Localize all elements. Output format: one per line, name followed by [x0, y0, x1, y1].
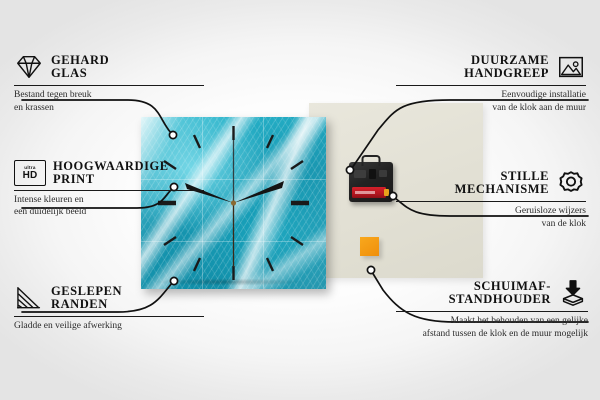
- connector-dot-gehard-glas: [169, 131, 176, 138]
- feature-title-line1: GESLEPEN: [51, 285, 122, 298]
- feature-stille-mechanisme: STILLE MECHANISME Geruisloze wijzers van…: [396, 168, 586, 230]
- feature-title-line2: GLAS: [51, 67, 109, 80]
- feature-title-line1: HOOGWAARDIGE: [53, 160, 169, 173]
- feature-subtitle: Eenvoudige installatie van de klok aan d…: [396, 89, 586, 114]
- diamond-icon: [14, 52, 44, 82]
- feature-header: SCHUIMAF- STANDHOUDER: [396, 278, 588, 308]
- gear-icon: [556, 168, 586, 198]
- feature-header: STILLE MECHANISME: [396, 168, 586, 198]
- feature-rule: [396, 85, 586, 86]
- feature-titles: HOOGWAARDIGE PRINT: [53, 160, 169, 187]
- feature-titles: GEHARD GLAS: [51, 54, 109, 81]
- feature-rule: [396, 311, 588, 312]
- feature-subtitle: Gladde en veilige afwerking: [14, 320, 204, 333]
- feature-gehard-glas: GEHARD GLAS Bestand tegen breuk en krass…: [14, 52, 204, 114]
- feature-header: DUURZAME HANDGREEP: [396, 52, 586, 82]
- feature-titles: DUURZAME HANDGREEP: [464, 54, 549, 81]
- feature-rule: [14, 190, 204, 191]
- feature-subtitle-line2: afstand tussen de klok en de muur mogeli…: [423, 329, 588, 339]
- feature-hoogwaardige-print: ultra HD HOOGWAARDIGE PRINT Intense kleu…: [14, 160, 204, 219]
- feature-title-line2: MECHANISME: [455, 183, 549, 196]
- connector-dot-schuimaf-standhouder: [367, 266, 374, 273]
- picture-frame-icon: [556, 52, 586, 82]
- feature-subtitle-line1: Geruisloze wijzers: [515, 206, 586, 216]
- feature-subtitle: Maakt het behouden van een gelijke afsta…: [396, 315, 588, 340]
- feature-header: GESLEPEN RANDEN: [14, 283, 204, 313]
- feature-title-line1: DUURZAME: [464, 54, 549, 67]
- feature-titles: GESLEPEN RANDEN: [51, 285, 122, 312]
- feature-rule: [14, 316, 204, 317]
- infographic-canvas: GEHARD GLAS Bestand tegen breuk en krass…: [0, 0, 600, 400]
- feature-title-line2: PRINT: [53, 173, 169, 186]
- press-down-pad-icon: [558, 278, 588, 308]
- feature-subtitle-line1: Bestand tegen breuk: [14, 90, 92, 100]
- feature-title-line1: SCHUIMAF-: [449, 280, 551, 293]
- feature-subtitle-line2: en krassen: [14, 103, 54, 113]
- feature-subtitle-line1: Maakt het behouden van een gelijke: [451, 316, 588, 326]
- ultra-hd-icon: ultra HD: [14, 160, 46, 186]
- feature-rule: [396, 201, 586, 202]
- feature-subtitle-line2: van de klok: [542, 219, 586, 229]
- bevelled-edge-icon: [14, 283, 44, 313]
- feature-subtitle-line1: Gladde en veilige afwerking: [14, 321, 122, 331]
- feature-title-line2: STANDHOUDER: [449, 293, 551, 306]
- feature-title-line1: GEHARD: [51, 54, 109, 67]
- feature-subtitle: Bestand tegen breuk en krassen: [14, 89, 204, 114]
- feature-geslepen-randen: GESLEPEN RANDEN Gladde en veilige afwerk…: [14, 283, 204, 333]
- feature-duurzame-handgreep: DUURZAME HANDGREEP Eenvoudige installati…: [396, 52, 586, 114]
- feature-title-line2: RANDEN: [51, 298, 122, 311]
- feature-subtitle: Intense kleuren en een duidelijk beeld: [14, 194, 204, 219]
- feature-subtitle-line2: van de klok aan de muur: [492, 103, 586, 113]
- feature-titles: SCHUIMAF- STANDHOUDER: [449, 280, 551, 307]
- feature-subtitle-line1: Eenvoudige installatie: [501, 90, 586, 100]
- feature-title-line1: STILLE: [455, 170, 549, 183]
- feature-title-line2: HANDGREEP: [464, 67, 549, 80]
- feature-subtitle-line1: Intense kleuren en: [14, 195, 84, 205]
- feature-header: ultra HD HOOGWAARDIGE PRINT: [14, 160, 204, 187]
- feature-titles: STILLE MECHANISME: [455, 170, 549, 197]
- feature-schuimaf-standhouder: SCHUIMAF- STANDHOUDER Maakt het behouden…: [396, 278, 588, 340]
- feature-subtitle: Geruisloze wijzers van de klok: [396, 205, 586, 230]
- ultra-hd-icon-main-text: HD: [23, 171, 38, 181]
- feature-rule: [14, 85, 204, 86]
- connector-dot-duurzame-handgreep: [346, 166, 353, 173]
- feature-header: GEHARD GLAS: [14, 52, 204, 82]
- feature-subtitle-line2: een duidelijk beeld: [14, 207, 86, 217]
